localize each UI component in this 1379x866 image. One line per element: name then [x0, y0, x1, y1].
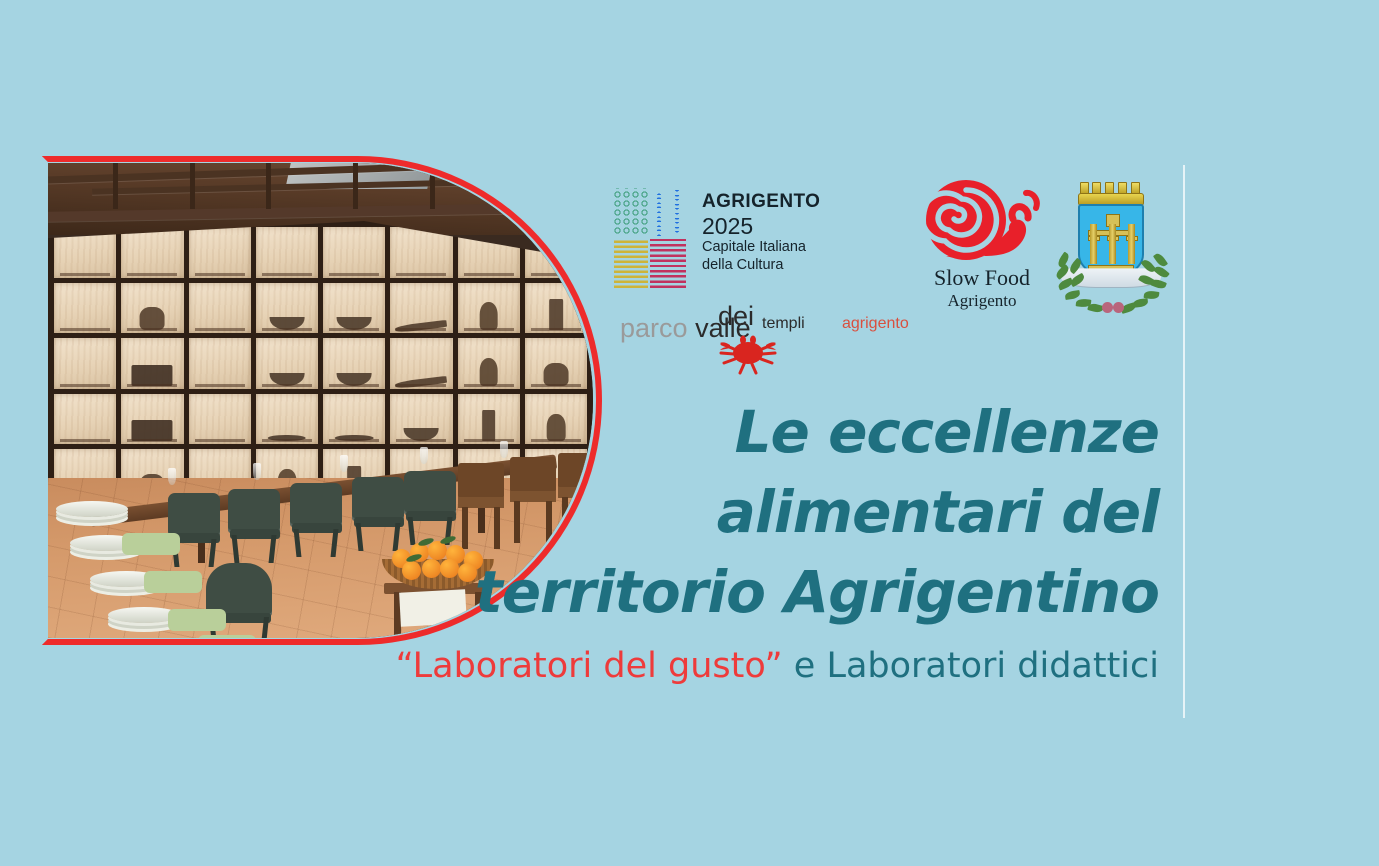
slow-food-snail-icon — [924, 178, 1040, 264]
mark-block-yellow-stripes — [614, 238, 648, 288]
shelf-cell — [121, 338, 183, 389]
shelf-cell — [121, 283, 183, 334]
seat-cushion — [198, 635, 256, 638]
shelf-cell — [323, 227, 385, 278]
subtitle-rest: e Laboratori didattici — [783, 646, 1159, 686]
orange — [440, 559, 459, 578]
main-title: Le eccellenze alimentari del territorio … — [459, 392, 1159, 632]
logo-slow-food: Slow Food Agrigento — [917, 178, 1047, 310]
parco-word-agrigento: agrigento — [842, 315, 909, 333]
shelf-cell — [189, 338, 251, 389]
logo-line-year: 2025 — [702, 213, 820, 239]
wine-glass — [420, 447, 428, 464]
orange-leaf — [439, 535, 456, 546]
orange — [402, 561, 421, 580]
artifact-bowl — [404, 428, 439, 441]
shelf-cell — [323, 394, 385, 445]
shelf-cell — [256, 283, 318, 334]
artifact-tool — [395, 376, 448, 389]
title-line-3: territorio Agrigentino — [459, 552, 1159, 632]
shelf-cell — [458, 283, 520, 334]
agrigento-2025-mark — [612, 188, 690, 288]
title-line-2: alimentari del — [459, 472, 1159, 552]
chair-leg — [294, 529, 302, 557]
artifact-panel — [132, 420, 173, 441]
ribbon-bow — [1102, 302, 1124, 316]
mark-block-green-dots — [612, 188, 648, 236]
shelf-cell — [189, 394, 251, 445]
mural-crown-icon — [1078, 180, 1144, 206]
rafter — [113, 163, 118, 209]
shelf-cell — [525, 338, 587, 389]
shelf-cell — [390, 283, 452, 334]
rafter — [266, 163, 271, 209]
chair-back — [290, 483, 342, 527]
artifact-bowl — [269, 373, 304, 386]
crab-svg — [716, 329, 780, 375]
artifact-plate — [335, 435, 374, 442]
ceiling-beam — [48, 202, 593, 222]
title-line-1: Le eccellenze — [459, 392, 1159, 472]
wine-glass — [340, 455, 348, 472]
vertical-divider — [1183, 165, 1185, 718]
chair — [228, 489, 280, 563]
laurel-wreath-icon — [1054, 250, 1170, 316]
artifact-bowl — [337, 317, 372, 330]
artifact-pot — [140, 307, 165, 330]
rafter — [506, 163, 511, 209]
shelf-cell — [525, 283, 587, 334]
shelf-cell — [323, 283, 385, 334]
wine-glass — [168, 468, 176, 485]
shelf-cell — [256, 394, 318, 445]
chair-leg — [232, 535, 240, 563]
chair — [290, 483, 342, 557]
subtitle: “Laboratori del gusto” e Laboratori dida… — [379, 645, 1159, 687]
logo-line-capitale: Capitale Italiana — [702, 239, 820, 257]
shelf-cell — [256, 338, 318, 389]
plate-stack — [56, 501, 128, 517]
chair-leg — [331, 529, 339, 557]
logo-row: AGRIGENTO 2025 Capitale Italiana della C… — [612, 178, 1182, 353]
artifact-plate — [268, 435, 307, 442]
shelf-cell — [390, 394, 452, 445]
shelf-cell — [54, 338, 116, 389]
rafter — [430, 163, 435, 209]
chair-back — [228, 489, 280, 533]
shelf-cell — [54, 394, 116, 445]
parco-word-dei: dei — [718, 301, 754, 332]
poster-canvas: AGRIGENTO 2025 Capitale Italiana della C… — [0, 0, 1379, 866]
logo-parco-valle-dei-templi: parco valle dei templi agrigento — [620, 315, 920, 371]
shelf-cell — [458, 338, 520, 389]
orange — [422, 559, 441, 578]
slow-food-label: Slow Food — [917, 266, 1047, 291]
napkin — [399, 589, 467, 626]
chair — [168, 493, 220, 567]
artifact-tool — [395, 320, 448, 333]
artifact-amphora — [479, 358, 498, 386]
chair-back — [352, 477, 404, 521]
logo-line-cultura: della Cultura — [702, 257, 820, 275]
shelf-cell — [390, 338, 452, 389]
shelf-cell — [121, 394, 183, 445]
seat-cushion — [144, 571, 202, 593]
slow-food-city: Agrigento — [917, 291, 1047, 311]
chair-back — [168, 493, 220, 537]
logo-line-agrigento: AGRIGENTO — [702, 192, 820, 212]
artifact-bowl — [269, 317, 304, 330]
artifact-panel — [132, 365, 173, 386]
rafter — [190, 163, 195, 209]
seat-cushion — [168, 609, 226, 631]
artifact-pot — [543, 363, 568, 386]
chair-leg — [269, 535, 277, 563]
shelf-cell — [256, 227, 318, 278]
artifact-amphora — [479, 302, 498, 330]
artifact-bowl — [337, 373, 372, 386]
snail-svg — [924, 178, 1040, 264]
chair-leg — [356, 523, 364, 551]
crab-icon — [716, 329, 780, 375]
chair-back — [404, 471, 456, 515]
logo-agrigento-2025: AGRIGENTO 2025 Capitale Italiana della C… — [612, 188, 820, 288]
subtitle-quoted: “Laboratori del gusto” — [396, 646, 783, 686]
shelf-cell — [121, 227, 183, 278]
shelf-cell — [323, 338, 385, 389]
shelf-cell — [189, 227, 251, 278]
agrigento-coat-of-arms — [1052, 178, 1172, 318]
parco-word-parco: parco — [620, 313, 688, 343]
mark-block-blue-waves — [650, 190, 686, 236]
artifact-vessel — [549, 299, 563, 330]
shelf-cell — [54, 283, 116, 334]
rafter — [353, 163, 358, 209]
shelf-cell — [189, 283, 251, 334]
wine-glass — [253, 463, 261, 480]
agrigento-2025-text: AGRIGENTO 2025 Capitale Italiana della C… — [702, 188, 820, 275]
mark-block-magenta-zigzag — [650, 238, 686, 288]
seat-cushion — [122, 533, 180, 555]
